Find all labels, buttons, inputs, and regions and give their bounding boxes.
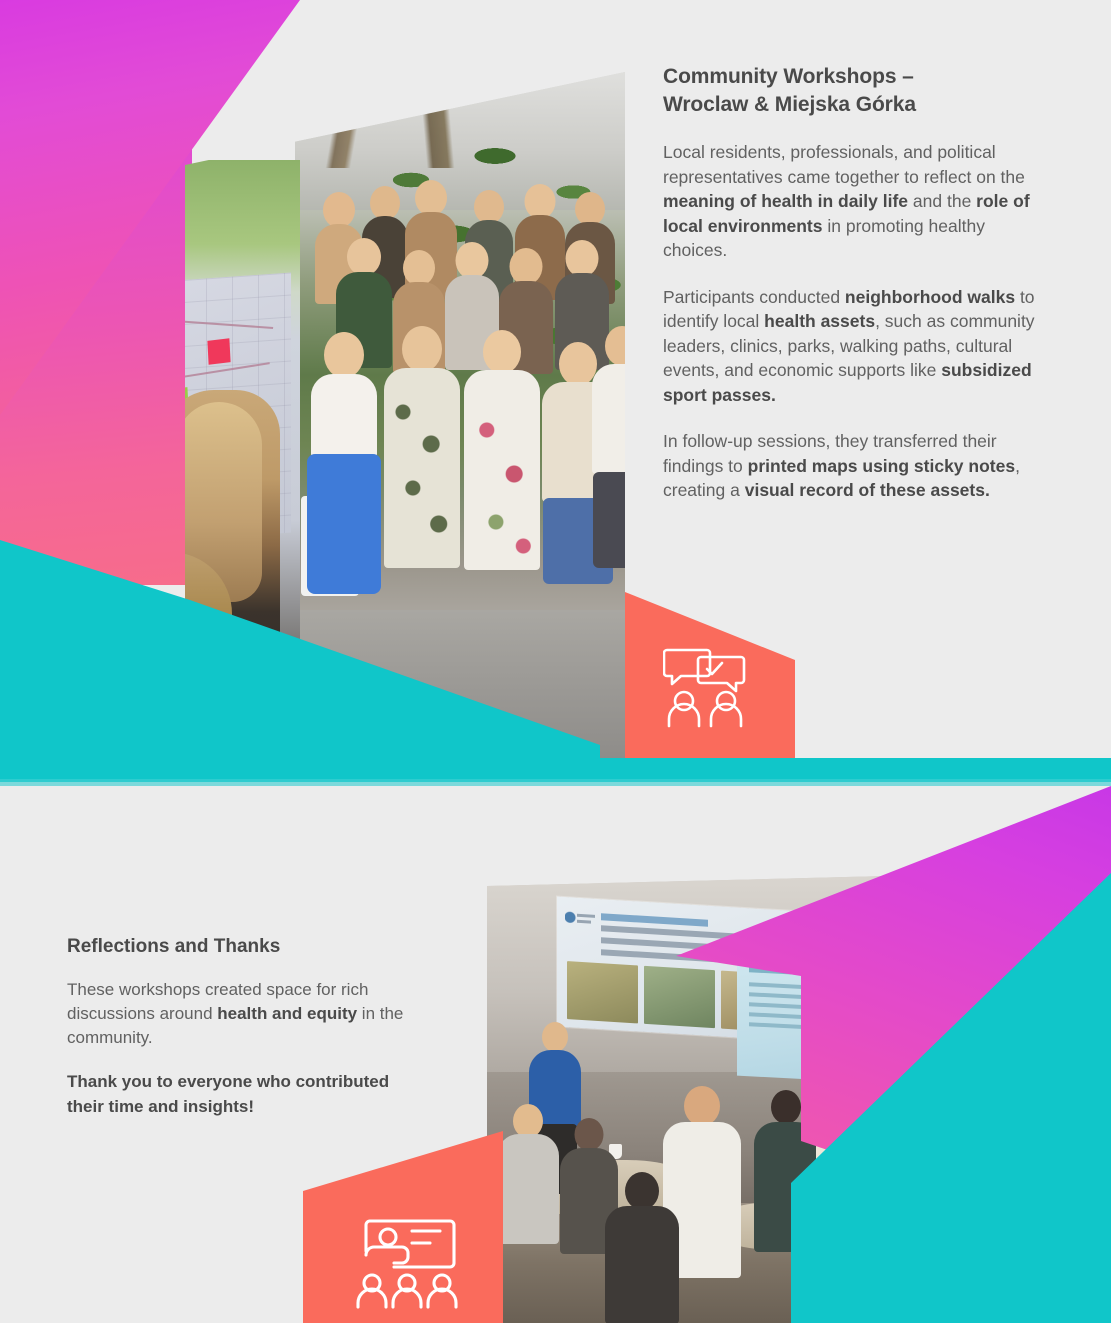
presentation-audience-icon <box>352 1215 462 1311</box>
section-two-title: Reflections and Thanks <box>67 936 427 958</box>
paragraph-intro: Local residents, professionals, and poli… <box>663 140 1038 263</box>
section-one-title: Community Workshops – Wroclaw & Miejska … <box>663 63 1038 118</box>
paragraph-reflections: These workshops created space for rich d… <box>67 978 427 1050</box>
paragraph-follow-up: In follow-up sessions, they transferred … <box>663 429 1038 503</box>
paragraph-neighborhood-walks: Participants conducted neighborhood walk… <box>663 285 1038 408</box>
poster-page: Community Workshops – Wroclaw & Miejska … <box>0 0 1111 1323</box>
section-one-text-column: Community Workshops – Wroclaw & Miejska … <box>663 63 1038 525</box>
paragraph-thanks: Thank you to everyone who contributed th… <box>67 1070 427 1118</box>
conversation-check-icon <box>663 642 749 728</box>
title-line-1: Community Workshops – <box>663 65 914 88</box>
decorative-teal-band-shadow <box>0 779 1111 786</box>
section-two-text-column: Reflections and Thanks These workshops c… <box>67 936 427 1139</box>
section-community-workshops: Community Workshops – Wroclaw & Miejska … <box>0 0 1111 790</box>
section-reflections-thanks: Reflections and Thanks These workshops c… <box>0 786 1111 1323</box>
title-line-2: Wroclaw & Miejska Górka <box>663 93 916 116</box>
